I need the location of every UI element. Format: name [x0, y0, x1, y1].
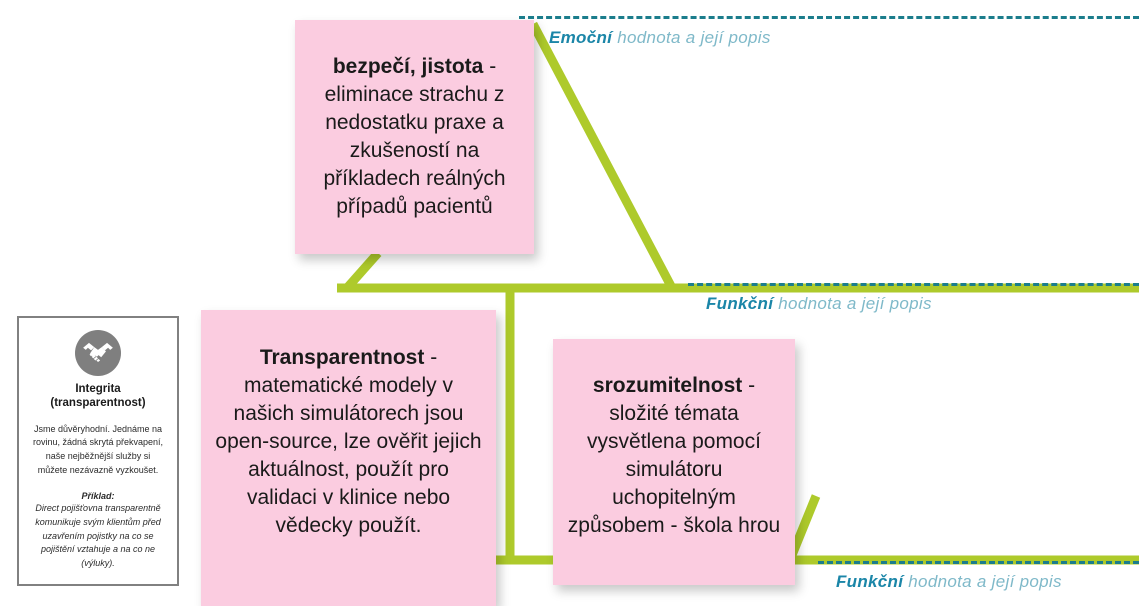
- axis-dashed-line-funkcni-dolni: [818, 561, 1139, 564]
- value-card-title: Integrita (transparentnost): [28, 382, 168, 411]
- sticky-note-separator-bezpeci: -: [483, 55, 496, 78]
- sticky-note-transparentnost[interactable]: Transparentnost - matematické modely v n…: [201, 310, 496, 606]
- sticky-note-text-srozumitelnost: srozumitelnost - složité témata vysvětle…: [553, 372, 795, 540]
- axis-kind-funkcni-dolni: Funkční: [836, 572, 903, 591]
- connector-diagonal-topright: [533, 24, 672, 288]
- sticky-note-title-transparentnost: Transparentnost: [260, 346, 425, 369]
- sticky-note-srozumitelnost[interactable]: srozumitelnost - složité témata vysvětle…: [553, 339, 795, 585]
- axis-desc-funkcni-horni: hodnota a její popis: [773, 294, 931, 313]
- handshake-icon: [75, 330, 121, 376]
- value-card-icon-wrap: [28, 330, 168, 376]
- sticky-note-separator-srozumitelnost: -: [742, 374, 755, 397]
- sticky-note-text-transparentnost: Transparentnost - matematické modely v n…: [201, 344, 496, 539]
- sticky-note-title-srozumitelnost: srozumitelnost: [593, 374, 742, 397]
- axis-dashed-line-funkcni-horni: [688, 283, 1139, 286]
- sticky-note-body-bezpeci: eliminace strachu z nedostatku praxe a z…: [323, 83, 505, 218]
- value-card-example-body: Direct pojišťovna transparentně komuniku…: [28, 502, 168, 570]
- axis-desc-emocni: hodnota a její popis: [612, 28, 770, 47]
- value-map-canvas: Emoční hodnota a její popis Funkční hodn…: [0, 0, 1139, 606]
- connector-diagonal-topleft: [347, 253, 378, 288]
- axis-kind-emocni: Emoční: [549, 28, 612, 47]
- axis-kind-funkcni-horni: Funkční: [706, 294, 773, 313]
- sticky-note-body-transparentnost: matematické modely v našich simulátorech…: [215, 374, 481, 537]
- axis-desc-funkcni-dolni: hodnota a její popis: [903, 572, 1061, 591]
- value-card-body: Jsme důvěryhodní. Jednáme na rovinu, žád…: [28, 423, 168, 478]
- axis-label-emocni: Emoční hodnota a její popis: [549, 28, 771, 48]
- sticky-note-title-bezpeci: bezpečí, jistota: [333, 55, 484, 78]
- sticky-note-bezpeci-jistota[interactable]: bezpečí, jistota - eliminace strachu z n…: [295, 20, 534, 254]
- value-card-integrita[interactable]: Integrita (transparentnost) Jsme důvěryh…: [17, 316, 179, 586]
- value-card-example-title: Příklad:: [28, 491, 168, 501]
- axis-label-funkcni-dolni: Funkční hodnota a její popis: [836, 572, 1062, 592]
- sticky-note-separator-transparentnost: -: [424, 346, 437, 369]
- sticky-note-body-srozumitelnost: složité témata vysvětlena pomocí simulát…: [568, 402, 780, 537]
- axis-label-funkcni-horni: Funkční hodnota a její popis: [706, 294, 932, 314]
- sticky-note-text-bezpeci: bezpečí, jistota - eliminace strachu z n…: [295, 53, 534, 221]
- axis-dashed-line-emocni: [519, 16, 1139, 19]
